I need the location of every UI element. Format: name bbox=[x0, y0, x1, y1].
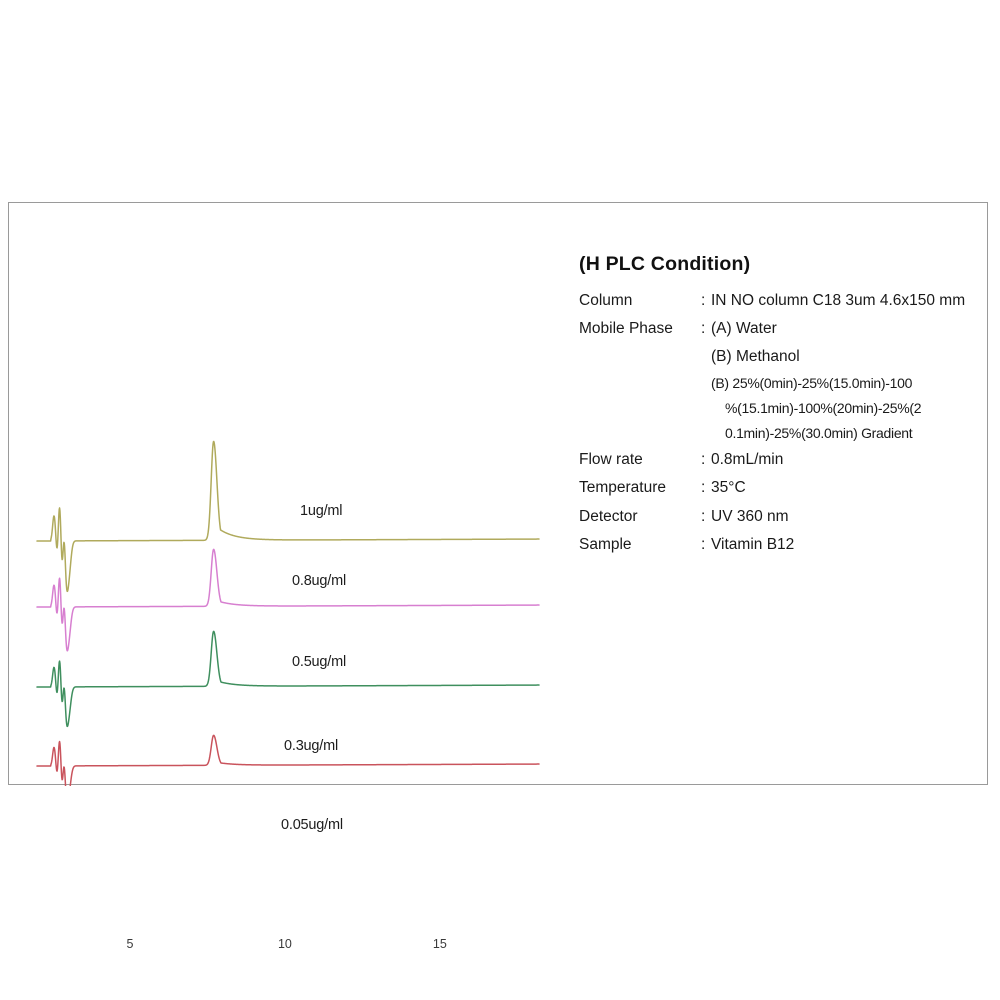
condition-separator: : bbox=[701, 450, 711, 469]
condition-value: UV 360 nm bbox=[711, 507, 989, 526]
hplc-conditions-panel: (H PLC Condition) Column : IN NO column … bbox=[579, 253, 989, 563]
condition-value: (A) Water bbox=[711, 319, 989, 338]
chromatogram-trace bbox=[37, 441, 539, 591]
condition-key: Detector bbox=[579, 507, 701, 526]
chromatogram-svg bbox=[9, 203, 569, 786]
gradient-line-1: (B) 25%(0min)-25%(15.0min)-100 bbox=[711, 375, 989, 391]
figure-root: 1ug/ml0.8ug/ml0.5ug/ml0.3ug/ml0.05ug/ml … bbox=[0, 0, 1000, 1000]
condition-value: 35°C bbox=[711, 478, 989, 497]
condition-row-column: Column : IN NO column C18 3um 4.6x150 mm bbox=[579, 291, 989, 310]
trace-concentration-label: 0.5ug/ml bbox=[292, 654, 346, 670]
condition-separator: : bbox=[701, 535, 711, 554]
condition-separator: : bbox=[701, 478, 711, 497]
gradient-line-3: 0.1min)-25%(30.0min) Gradient bbox=[725, 425, 989, 441]
mobile-phase-line-b: (B) Methanol bbox=[711, 348, 989, 366]
condition-separator: : bbox=[701, 507, 711, 526]
condition-row-sample: Sample : Vitamin B12 bbox=[579, 535, 989, 554]
condition-key: Mobile Phase bbox=[579, 319, 701, 338]
condition-key: Flow rate bbox=[579, 450, 701, 469]
x-axis-tick-label: 10 bbox=[278, 937, 292, 951]
condition-separator: : bbox=[701, 291, 711, 310]
figure-frame: 1ug/ml0.8ug/ml0.5ug/ml0.3ug/ml0.05ug/ml … bbox=[8, 202, 988, 785]
trace-concentration-label: 0.8ug/ml bbox=[292, 573, 346, 589]
gradient-line-2: %(15.1min)-100%(20min)-25%(2 bbox=[725, 400, 989, 416]
x-axis-tick-label: 5 bbox=[126, 937, 133, 951]
chromatogram-plot: 1ug/ml0.8ug/ml0.5ug/ml0.3ug/ml0.05ug/ml … bbox=[9, 203, 569, 786]
condition-row-mobile-phase: Mobile Phase : (A) Water bbox=[579, 319, 989, 338]
condition-key: Temperature bbox=[579, 478, 701, 497]
condition-value: Vitamin B12 bbox=[711, 535, 989, 554]
condition-value: 0.8mL/min bbox=[711, 450, 989, 469]
condition-separator: : bbox=[701, 319, 711, 338]
trace-group bbox=[37, 441, 539, 786]
chromatogram-trace bbox=[37, 549, 539, 650]
x-axis-tick-label: 15 bbox=[433, 937, 447, 951]
condition-key: Sample bbox=[579, 535, 701, 554]
condition-value: IN NO column C18 3um 4.6x150 mm bbox=[711, 291, 989, 310]
chromatogram-trace bbox=[37, 631, 539, 726]
trace-concentration-label: 0.05ug/ml bbox=[281, 817, 343, 833]
trace-concentration-label: 0.3ug/ml bbox=[284, 738, 338, 754]
trace-concentration-label: 1ug/ml bbox=[300, 503, 342, 519]
condition-row-temperature: Temperature : 35°C bbox=[579, 478, 989, 497]
conditions-title: (H PLC Condition) bbox=[579, 253, 989, 276]
condition-row-flow-rate: Flow rate : 0.8mL/min bbox=[579, 450, 989, 469]
condition-key: Column bbox=[579, 291, 701, 310]
condition-row-detector: Detector : UV 360 nm bbox=[579, 507, 989, 526]
